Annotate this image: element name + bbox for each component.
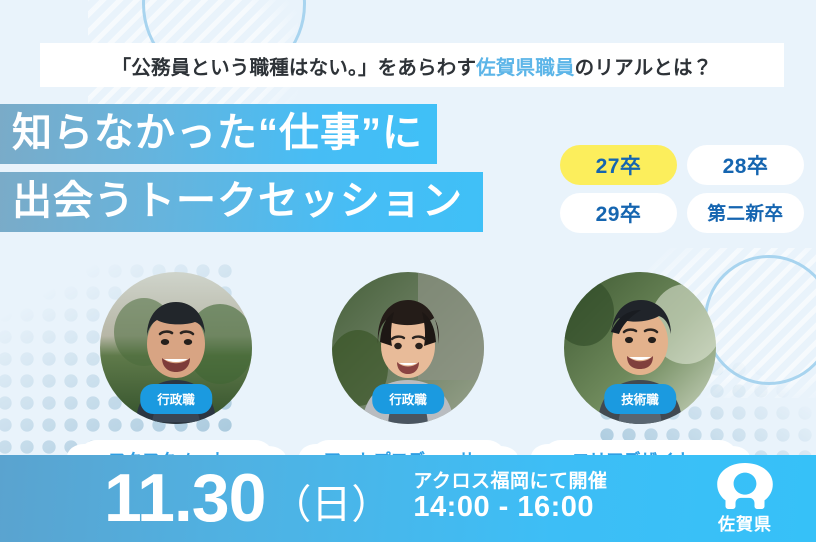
badge-daini-shinsotsu: 第二新卒 [687,193,804,233]
event-venue-block: アクロス福岡にて開催 14:00 - 16:00 [413,471,607,525]
grad-year-badges: 27卒 28卒 29卒 第二新卒 [560,145,804,233]
event-flyer: 「公務員という職種はない。」をあらわす佐賀県職員のリアルとは？ 知らなかった“仕… [0,0,816,542]
tagline-prefix: 「公務員という職種はない。」をあらわす [112,57,477,79]
saga-prefecture-logo: 佐賀県 [702,463,788,535]
event-date-bar: 11.30 （日） アクロス福岡にて開催 14:00 - 16:00 佐賀県 [0,455,816,542]
badge-28sotsu: 28卒 [687,145,804,185]
headline-line-1: 知らなかった“仕事”に [0,104,437,164]
speaker-job-type-3: 技術職 [604,384,676,414]
event-venue: アクロス福岡にて開催 [413,471,607,493]
tagline-text: 「公務員という職種はない。」をあらわす佐賀県職員のリアルとは？ [112,51,713,80]
tagline-banner: 「公務員という職種はない。」をあらわす佐賀県職員のリアルとは？ [40,43,784,87]
speaker-job-type-2: 行政職 [372,384,444,414]
event-day-of-week: （日） [271,485,391,525]
event-date: 11.30 （日） [104,467,391,530]
saga-logo-text: 佐賀県 [718,510,772,535]
headline-line-2: 出会うトークセッション [0,172,483,232]
event-time: 14:00 - 16:00 [413,492,607,524]
event-date-number: 11.30 [104,467,265,530]
saga-logo-mark [715,463,775,509]
badge-29sotsu: 29卒 [560,193,677,233]
speaker-card-2: 行政職 アートプロデューサー [313,272,503,476]
speaker-job-type-1: 行政職 [140,384,212,414]
badge-27sotsu: 27卒 [560,145,677,185]
tagline-suffix: のリアルとは？ [575,57,713,79]
speaker-list: 行政職 ワクワクメーカー [0,272,816,476]
tagline-accent: 佐賀県職員 [476,57,575,79]
speaker-card-3: 技術職 エリアデザイナー [545,272,735,476]
speaker-card-1: 行政職 ワクワクメーカー [81,272,271,476]
